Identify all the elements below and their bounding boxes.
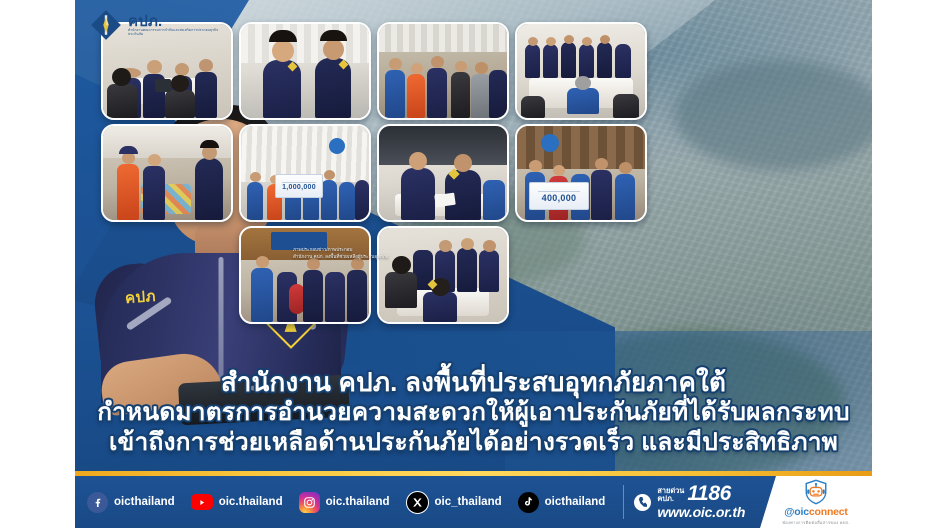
oicconnect-subtitle: ช่องทางการติดต่อสื่อสารของ คปภ.: [782, 519, 850, 526]
hotline-website: www.oic.or.th: [657, 505, 745, 519]
photo-6[interactable]: 1,000,000: [239, 124, 371, 222]
photo-4[interactable]: [515, 22, 647, 120]
artboard: คปภ. สำนักงานคณะกรรมการกำกับและส่งเสริมก…: [75, 0, 872, 528]
oicconnect-prefix: @oic: [784, 506, 809, 518]
cheque-amount: 1,000,000: [282, 184, 316, 191]
hotline-text: สายด่วน คปภ. 1186 www.oic.or.th: [657, 485, 745, 519]
oic-logo: คปภ. สำนักงานคณะกรรมการกำกับและส่งเสริมก…: [91, 10, 228, 40]
hotline-number: 1186: [687, 485, 731, 503]
footer-bar: oicthailand oic.thailand: [75, 476, 872, 528]
instagram-icon: [299, 492, 320, 513]
tiktok-handle: oicthailand: [545, 496, 606, 508]
photo-9[interactable]: [239, 226, 371, 324]
oic-diamond-logo-icon: [91, 10, 121, 40]
oic-logo-text: คปภ. สำนักงานคณะกรรมการกำกับและส่งเสริมก…: [128, 14, 228, 37]
youtube-icon: [191, 494, 213, 510]
facebook-icon: [87, 492, 108, 513]
photo-2[interactable]: [239, 22, 371, 120]
photo-8[interactable]: 400,000: [515, 124, 647, 222]
x-handle: oic_thailand: [435, 496, 502, 508]
jacket-chest-text: คปภ: [124, 284, 157, 310]
youtube-handle: oic.thailand: [219, 496, 283, 508]
social-tiktok[interactable]: oicthailand: [518, 492, 622, 513]
cheque-amount: 400,000: [542, 193, 577, 203]
headline-line-3: เข้าถึงการช่วยเหลือด้านประกันภัยได้อย่าง…: [89, 428, 858, 458]
social-x[interactable]: oic_thailand: [406, 491, 518, 514]
photo-credit-line1: ภาพประกอบข่าว/ภาพประกอบ: [293, 247, 388, 254]
tiktok-icon: [518, 492, 539, 513]
social-instagram[interactable]: oic.thailand: [299, 492, 406, 513]
hotline-block[interactable]: สายด่วน คปภ. 1186 www.oic.or.th: [634, 485, 753, 519]
oicconnect-bot-icon: [803, 479, 829, 505]
photo-3[interactable]: [377, 22, 509, 120]
headline-block: สำนักงาน คปภ. ลงพื้นที่ประสบอุทกภัยภาคใต…: [75, 367, 872, 458]
social-facebook[interactable]: oicthailand: [87, 492, 191, 513]
vegetation-patch: [675, 60, 872, 170]
oic-abbrev: คปภ.: [128, 14, 228, 30]
hotline-label-2: คปภ.: [657, 495, 684, 503]
headline-line-2: กำหนดมาตรการอำนวยความสะดวกให้ผู้เอาประกั…: [89, 398, 858, 428]
facebook-handle: oicthailand: [114, 496, 175, 508]
cheque-2: 400,000: [529, 182, 589, 210]
photo-7[interactable]: [377, 124, 509, 222]
oicconnect-suffix: connect: [809, 506, 848, 518]
oicconnect-block[interactable]: @oicconnect ช่องทางการติดต่อสื่อสารของ ค…: [760, 476, 872, 528]
photo-5[interactable]: [101, 124, 233, 222]
photo-credit-line2: สำนักงาน คปภ. ลงพื้นที่ช่วยเหลือผู้ประสบ…: [293, 254, 388, 261]
x-twitter-icon: [406, 491, 429, 514]
footer-divider: [623, 485, 624, 519]
social-youtube[interactable]: oic.thailand: [191, 494, 299, 510]
instagram-handle: oic.thailand: [326, 496, 390, 508]
oic-full-name: สำนักงานคณะกรรมการกำกับและส่งเสริมการประ…: [128, 29, 228, 36]
oicconnect-name: @oicconnect: [784, 506, 847, 518]
poster-root: คปภ. สำนักงานคณะกรรมการกำกับและส่งเสริมก…: [0, 0, 940, 528]
phone-icon: [634, 494, 651, 511]
social-links: oicthailand oic.thailand: [75, 485, 760, 519]
headline-line-1: สำนักงาน คปภ. ลงพื้นที่ประสบอุทกภัยภาคใต…: [89, 367, 858, 399]
cheque-1: 1,000,000: [275, 174, 323, 198]
photo-credit: ภาพประกอบข่าว/ภาพประกอบ สำนักงาน คปภ. ลง…: [293, 247, 388, 261]
photo-10[interactable]: [377, 226, 509, 324]
